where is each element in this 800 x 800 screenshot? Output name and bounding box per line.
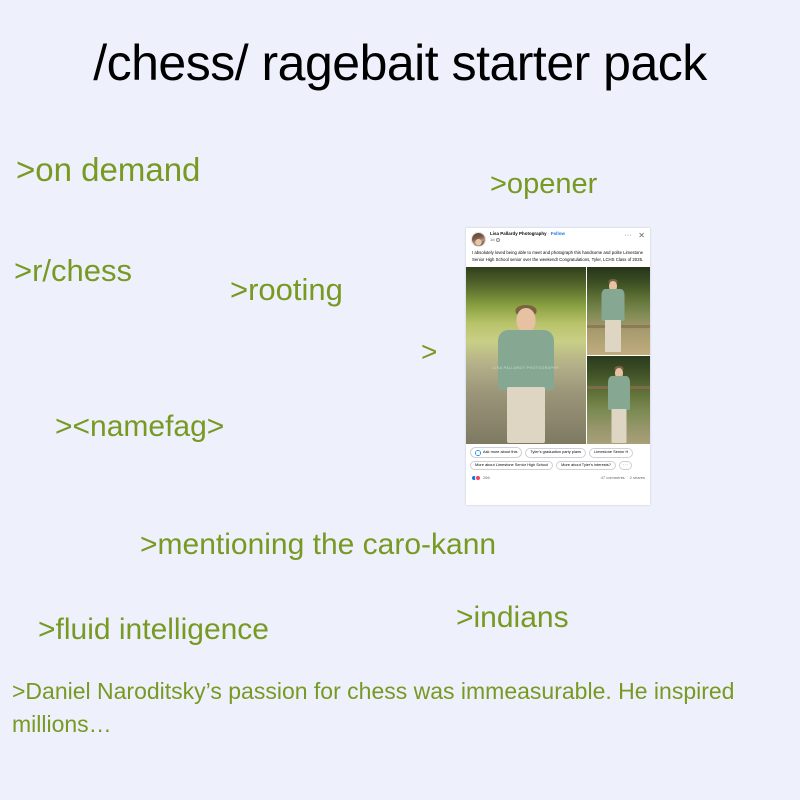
globe-icon (496, 238, 500, 242)
chip-graduation-party-plans[interactable]: Tyler's graduation party plans (525, 448, 586, 458)
post-header: Lisa Pallardy Photography · Follow 1d ··… (466, 228, 650, 249)
chip-label: More about Limestone Senior High School (475, 463, 548, 468)
post-footer: 266 47 comments 2 shares (466, 473, 650, 485)
subject-figure (600, 279, 626, 351)
greentext-on-demand: >on demand (16, 152, 200, 189)
meme-canvas: /chess/ ragebait starter pack >on demand… (0, 0, 800, 800)
chip-row-1: Ask more about this Tyler's graduation p… (470, 447, 646, 458)
photo-bridge-leaning[interactable] (587, 267, 650, 355)
chip-label: Ask more about this (483, 450, 517, 455)
separator-dot: · (548, 231, 550, 236)
chip-label: Limestone Senior H (594, 450, 628, 455)
reaction-summary[interactable]: 266 (471, 475, 490, 481)
page-title: /chess/ ragebait starter pack (0, 36, 800, 91)
chip-limestone-senior[interactable]: Limestone Senior H (589, 448, 633, 458)
greentext-naroditsky: >Daniel Naroditsky’s passion for chess w… (12, 675, 782, 740)
post-actions: ··· ✕ (624, 232, 645, 239)
chip-overflow-icon[interactable]: ··· (619, 461, 632, 471)
avatar[interactable] (471, 232, 486, 247)
chip-label: More about Tyler's interests? (561, 463, 611, 468)
post-author-name[interactable]: Lisa Pallardy Photography (490, 231, 547, 236)
post-photo-collage[interactable]: LISA PALLARDY PHOTOGRAPHY (466, 267, 650, 444)
photo-right-column (587, 267, 650, 444)
greentext-opener: >opener (490, 168, 597, 200)
reaction-count: 266 (483, 475, 490, 480)
photo-main-sidewalk-portrait[interactable]: LISA PALLARDY PHOTOGRAPHY (466, 267, 586, 444)
photo-watermark: LISA PALLARDY PHOTOGRAPHY (493, 366, 559, 370)
chip-ask-more-about-this[interactable]: Ask more about this (470, 447, 522, 458)
chip-more-about-interests[interactable]: More about Tyler's interests? (556, 461, 616, 471)
more-options-icon[interactable]: ··· (624, 233, 632, 239)
follow-link[interactable]: Follow (551, 231, 565, 236)
greentext-namefag: ><namefag> (55, 410, 224, 444)
chip-row-2: More about Limestone Senior High School … (470, 461, 646, 471)
photo-bridge-standing[interactable] (587, 356, 650, 444)
comment-count[interactable]: 47 comments (601, 475, 625, 480)
post-timestamp: 1d (490, 238, 494, 242)
greentext-r-chess: >r/chess (14, 254, 132, 289)
ai-suggestion-chips: Ask more about this Tyler's graduation p… (466, 444, 650, 470)
close-icon[interactable]: ✕ (638, 233, 645, 239)
heart-reaction-icon (475, 475, 481, 481)
subject-figure (606, 366, 632, 442)
post-body-text: I absolutely loved being able to meet an… (466, 249, 650, 267)
chip-label: Tyler's graduation party plans (530, 450, 581, 455)
post-meta-line: 1d (490, 238, 624, 242)
greentext-rooting: >rooting (230, 273, 343, 308)
greentext-caro-kann: >mentioning the caro-kann (140, 528, 496, 562)
subject-figure (494, 305, 558, 440)
post-author-line: Lisa Pallardy Photography · Follow (490, 232, 624, 237)
facebook-post-card: Lisa Pallardy Photography · Follow 1d ··… (466, 228, 650, 505)
chip-more-about-school[interactable]: More about Limestone Senior High School (470, 461, 553, 471)
greentext-indians: >indians (456, 601, 569, 635)
meta-ai-icon (475, 450, 481, 456)
share-count[interactable]: 2 shares (630, 475, 645, 480)
post-identity: Lisa Pallardy Photography · Follow 1d (490, 232, 624, 242)
reaction-icons (471, 475, 481, 481)
greentext-lone-arrow: > (421, 336, 437, 367)
greentext-fluid-intelligence: >fluid intelligence (38, 613, 269, 647)
engagement-counts: 47 comments 2 shares (601, 475, 645, 480)
